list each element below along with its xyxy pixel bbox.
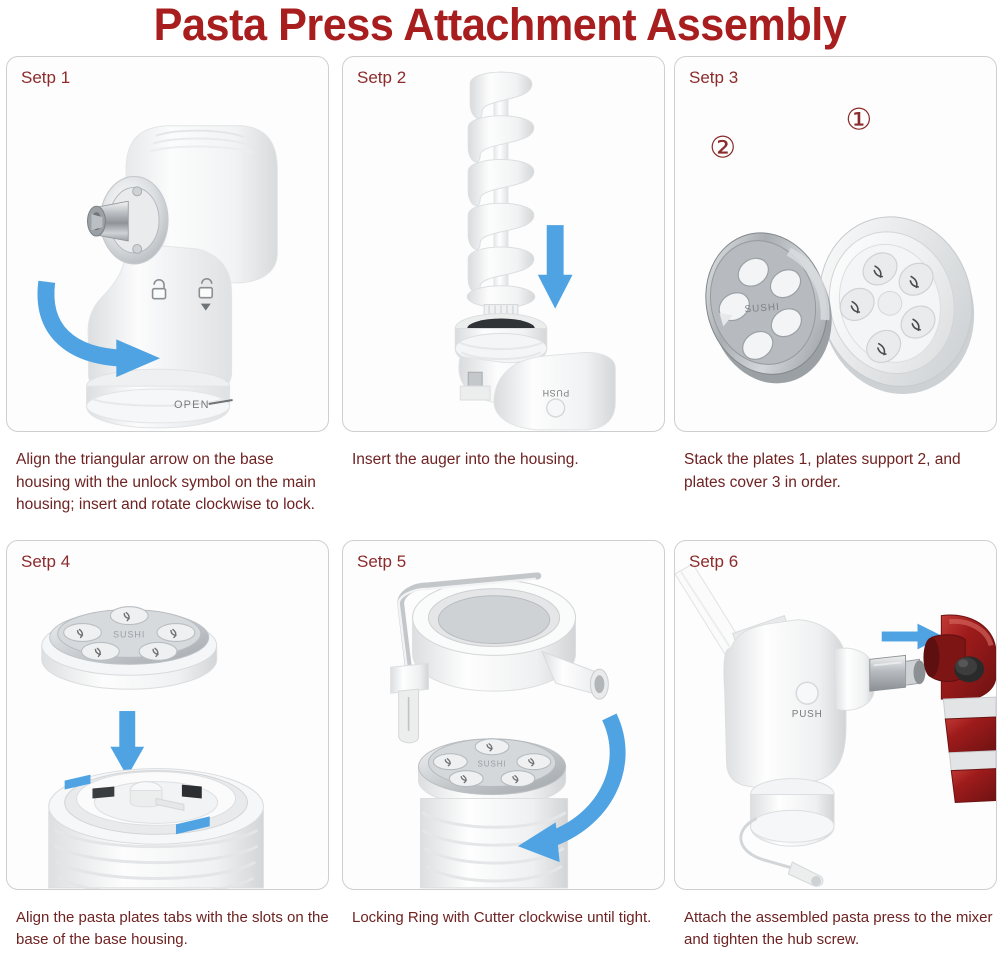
step-panel-2: Setp 2	[342, 56, 665, 432]
base-housing-top	[49, 769, 264, 889]
step-panel-6: Setp 6	[674, 540, 997, 890]
step-illustration-2: PUSH	[343, 57, 664, 431]
base-collar	[751, 779, 834, 847]
svg-text:SUSHI: SUSHI	[113, 629, 145, 639]
step-panel-4: Setp 4	[6, 540, 329, 890]
slot-right	[182, 785, 202, 799]
step-illustration-6: PUSH	[675, 541, 996, 889]
page-title: Pasta Press Attachment Assembly	[20, 0, 980, 52]
plate-support-two: SUSHI	[689, 218, 848, 399]
step-cell-2: Setp 2	[342, 56, 665, 472]
steps-row-top: Setp 1	[0, 56, 1000, 534]
step-label-2: Setp 2	[357, 68, 406, 88]
open-annotation: OPEN	[174, 399, 210, 411]
step-cell-6: Setp 6	[674, 540, 997, 951]
step-label-6: Setp 6	[689, 552, 738, 572]
hub-shaft	[870, 655, 926, 691]
step-illustration-1: OPEN	[7, 57, 328, 431]
step-panel-1: Setp 1	[6, 56, 329, 432]
steps-row-bottom: Setp 4	[0, 540, 1000, 965]
step-caption-4: Align the pasta plates tabs with the slo…	[6, 907, 329, 951]
step-cell-5: Setp 5	[342, 540, 665, 929]
step-cell-1: Setp 1	[6, 56, 329, 517]
plate-stack: SUSHI	[42, 607, 217, 689]
step-illustration-3: ①	[675, 57, 996, 431]
step-label-1: Setp 1	[21, 68, 70, 88]
steps-grid: Setp 1	[0, 56, 1000, 965]
align-arrow-icon	[110, 711, 144, 777]
step-caption-5: Locking Ring with Cutter clockwise until…	[342, 907, 665, 929]
push-label: PUSH	[792, 709, 823, 720]
stand-mixer	[923, 615, 996, 802]
step-panel-5: Setp 5	[342, 540, 665, 890]
marker-two-label: ②	[709, 131, 736, 166]
step-caption-2: Insert the auger into the housing.	[342, 449, 665, 472]
step-panel-3: Setp 3	[674, 56, 997, 432]
step-illustration-5: SUSHI	[343, 541, 664, 889]
step-caption-3: Stack the plates 1, plates support 2, an…	[674, 449, 997, 494]
attachment-body	[724, 620, 846, 788]
locking-ring	[413, 580, 576, 691]
step-caption-6: Attach the assembled pasta press to the …	[674, 907, 997, 951]
step-label-3: Setp 3	[689, 68, 738, 88]
step-caption-1: Align the triangular arrow on the base h…	[6, 449, 329, 517]
step-illustration-4: SUSHI	[7, 541, 328, 889]
marker-one-label: ①	[845, 103, 872, 138]
insert-arrow-icon	[538, 225, 573, 308]
step-cell-4: Setp 4	[6, 540, 329, 951]
auger	[467, 72, 535, 330]
step-cell-3: Setp 3	[674, 56, 997, 494]
slot-left	[92, 787, 114, 799]
push-label: PUSH	[542, 388, 569, 398]
step-label-5: Setp 5	[357, 552, 406, 572]
attachment-neck	[834, 648, 874, 710]
cutter-holder	[391, 663, 429, 693]
step-label-4: Setp 4	[21, 552, 70, 572]
svg-text:SUSHI: SUSHI	[477, 760, 506, 769]
hub-screw-knob[interactable]	[954, 656, 984, 682]
mounted-plate: SUSHI	[419, 739, 566, 807]
